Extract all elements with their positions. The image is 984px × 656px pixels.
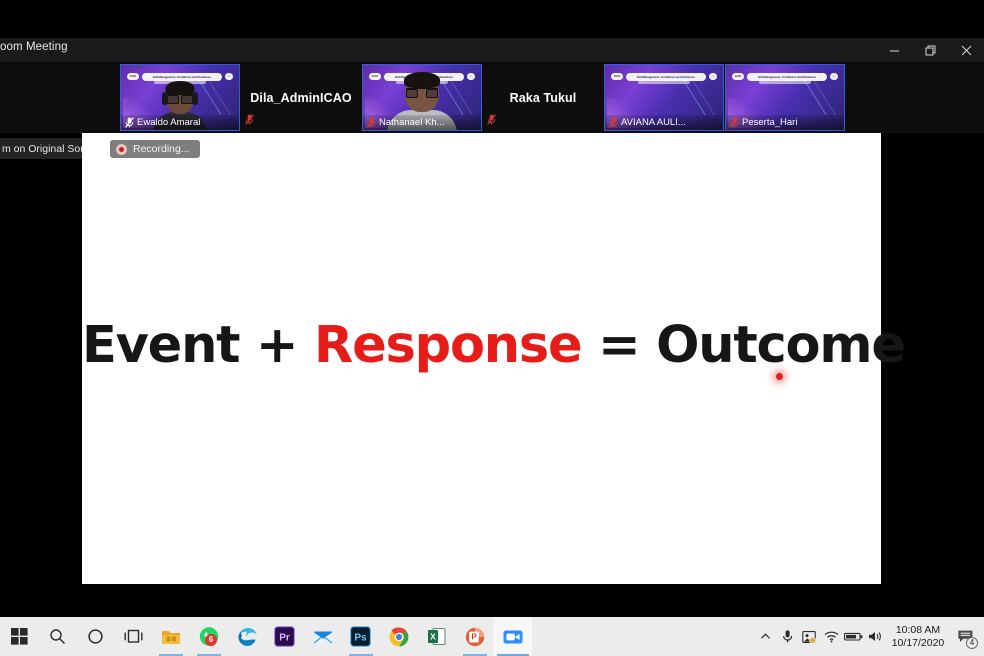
vbg-logo: ICAO [611,73,623,80]
mic-muted-icon [367,117,376,128]
vbg-logo: ICAO [732,73,744,80]
notification-center-icon[interactable]: 4 [950,617,980,656]
volume-icon[interactable] [864,617,886,656]
laser-pointer-dot [776,373,783,380]
task-view-icon[interactable] [114,617,152,656]
vbg-subtitle [638,80,690,84]
vbg-mark: — [830,73,839,80]
shared-screen: Recording... Event + Response = Outcome [82,133,881,584]
vbg-logo: ICAO [369,73,381,80]
participant-label: Nathanael Kh... [363,115,481,130]
show-hidden-icons-chevron-icon[interactable] [754,617,776,656]
person-hair [166,81,195,95]
slide-text-highlight: Response [314,316,581,375]
participant-name: Raka Tukul [510,91,577,105]
mic-muted-icon [730,117,739,128]
participant-tile-aviana[interactable]: ICAO Self-Management, Confidence and Res… [604,64,724,131]
participant-tile-raka-tukul[interactable]: Raka Tukul [483,64,603,131]
svg-text:Pr: Pr [279,632,290,643]
mic-muted-icon [125,117,134,128]
window-controls [876,38,984,62]
battery-icon[interactable] [842,617,864,656]
restore-button[interactable] [912,38,948,62]
participant-tile-dila-adminicao[interactable]: Dila_AdminICAO [241,64,361,131]
person-hair [404,72,440,88]
record-dot-icon [116,144,127,155]
vbg-mark: — [467,73,476,80]
participant-label: AVIANA AULI... [605,115,723,130]
participant-name: AVIANA AULI... [621,117,686,128]
headset-right [192,92,198,105]
slide-headline: Event + Response = Outcome [82,316,881,375]
taskbar-apps: 6 Pr [0,617,532,656]
premiere-pro-icon[interactable]: Pr [266,617,304,656]
participant-tile-ewaldo-amaral[interactable]: ICAO Self-Management, Confidence and Res… [120,64,240,131]
clock-date: 10/17/2020 [890,637,946,650]
original-sound-toggle[interactable]: m on Original Sound [0,138,90,159]
mail-icon[interactable] [304,617,342,656]
excel-icon[interactable]: X [418,617,456,656]
clock-time: 10:08 AM [890,624,946,637]
slide-text-part1: Event + [82,316,314,375]
recording-indicator[interactable]: Recording... [110,140,200,158]
participant-label: Ewaldo Amaral [121,115,239,130]
participant-name: Ewaldo Amaral [137,117,200,128]
wifi-icon[interactable] [820,617,842,656]
microsoft-edge-icon[interactable] [228,617,266,656]
vbg-logo: ICAO [127,73,139,80]
svg-text:P: P [471,632,477,641]
mic-muted-icon [487,114,496,128]
whatsapp-badge: 6 [205,634,217,646]
participant-filmstrip: ICAO Self-Management, Confidence and Res… [0,62,984,133]
notification-count: 4 [966,637,978,649]
svg-text:Ps: Ps [354,632,367,643]
powerpoint-icon[interactable]: P [456,617,494,656]
svg-text:X: X [430,631,436,641]
zoom-window-titlebar: oom Meeting [0,38,984,62]
desktop-background [0,584,984,617]
vbg-mark: — [225,73,234,80]
taskbar-clock[interactable]: 10:08 AM 10/17/2020 [886,624,950,650]
vbg-subtitle [759,80,811,84]
participant-name: Peserta_Hari [742,117,797,128]
whatsapp-icon[interactable]: 6 [190,617,228,656]
person-glasses [167,94,193,101]
recording-label: Recording... [133,143,190,155]
vbg-mark: — [709,73,718,80]
file-explorer-icon[interactable] [152,617,190,656]
system-tray: 10:08 AM 10/17/2020 4 [754,617,984,656]
screen: oom Meeting [0,0,984,656]
window-title: oom Meeting [0,41,68,53]
start-button[interactable] [0,617,38,656]
zoom-icon[interactable] [494,617,532,656]
cortana-icon[interactable] [76,617,114,656]
close-button[interactable] [948,38,984,62]
mic-muted-icon [609,117,618,128]
slide-text-part2: = Outcome [581,316,904,375]
participant-label: Peserta_Hari [726,115,844,130]
photoshop-icon[interactable]: Ps [342,617,380,656]
participant-name: Dila_AdminICAO [250,91,351,105]
windows-taskbar: 6 Pr [0,617,984,656]
chrome-icon[interactable] [380,617,418,656]
headset-left [162,92,168,105]
search-icon[interactable] [38,617,76,656]
onedrive-icon[interactable] [798,617,820,656]
mic-muted-icon [245,114,254,128]
participant-name: Nathanael Kh... [379,117,445,128]
person-glasses [406,88,438,95]
microphone-icon[interactable] [776,617,798,656]
minimize-button[interactable] [876,38,912,62]
participant-tile-peserta-hari[interactable]: ICAO Self-Management, Confidence and Res… [725,64,845,131]
participant-tile-nathanael[interactable]: ICAO Self-Management, Confidence and Res… [362,64,482,131]
